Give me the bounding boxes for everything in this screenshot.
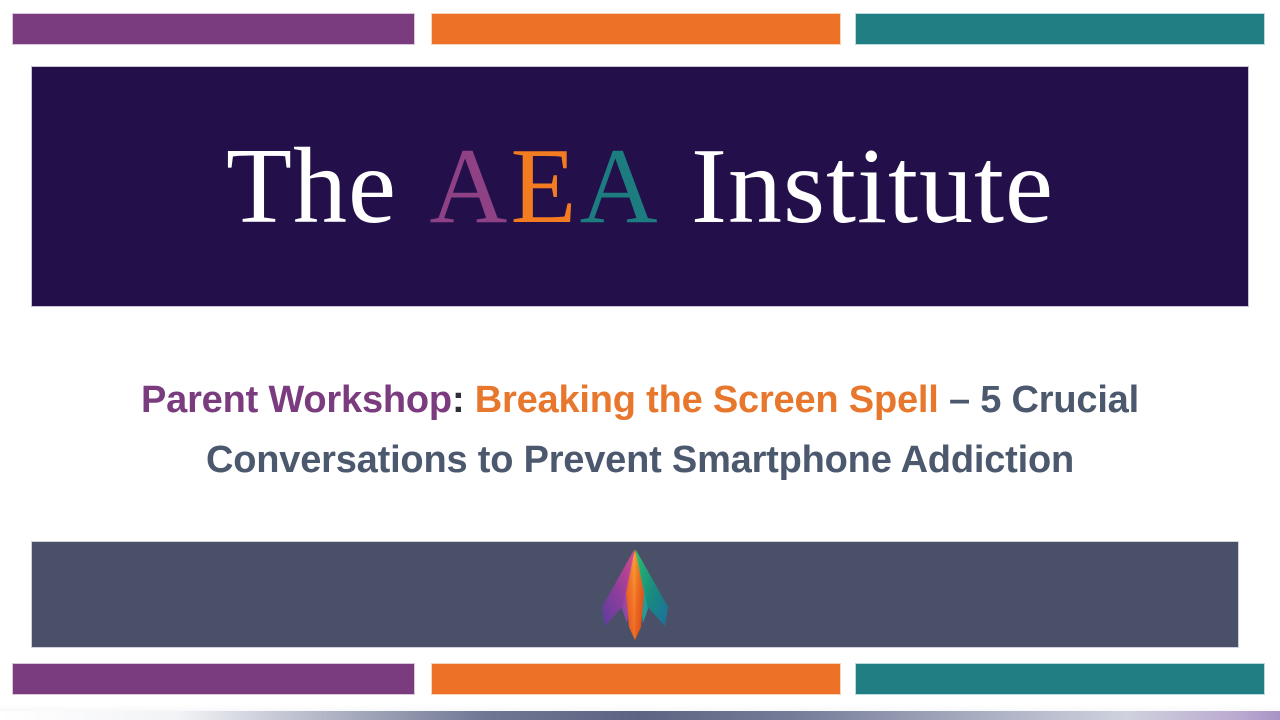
accent-bar-bottom-purple — [12, 663, 415, 695]
subtitle-colon: : — [452, 379, 464, 421]
accent-bar-top-orange — [431, 13, 841, 45]
aea-paper-plane-icon — [596, 547, 674, 643]
bottom-edge-shadow — [0, 711, 1280, 720]
subtitle-part-breaking-the-screen-spell: Breaking the Screen Spell — [475, 379, 939, 421]
bottom-accent-bar-row — [0, 663, 1280, 695]
subtitle-part-conversations: Conversations to Prevent Smartphone Addi… — [206, 439, 1074, 481]
wordmark-institute: Institute — [691, 133, 1054, 241]
subtitle-part-parent-workshop: Parent Workshop — [141, 379, 452, 421]
logo-banner: The A E A Institute — [31, 66, 1249, 307]
accent-bar-bottom-teal — [855, 663, 1265, 695]
top-accent-bar-row — [0, 13, 1280, 45]
accent-bar-top-teal — [855, 13, 1265, 45]
wordmark: The A E A Institute — [226, 133, 1054, 241]
wordmark-letter-a2: A — [580, 133, 659, 241]
accent-bar-top-purple — [12, 13, 415, 45]
wordmark-the: The — [226, 133, 397, 241]
wordmark-letter-a1: A — [429, 133, 508, 241]
subtitle-part-five-crucial: – 5 Crucial — [949, 379, 1139, 421]
accent-bar-bottom-orange — [431, 663, 841, 695]
footer-band — [31, 541, 1239, 648]
title-slide: The A E A Institute Parent Workshop: Bre… — [0, 0, 1280, 720]
wordmark-letter-e: E — [510, 133, 577, 241]
slide-subtitle: Parent Workshop: Breaking the Screen Spe… — [40, 370, 1240, 490]
